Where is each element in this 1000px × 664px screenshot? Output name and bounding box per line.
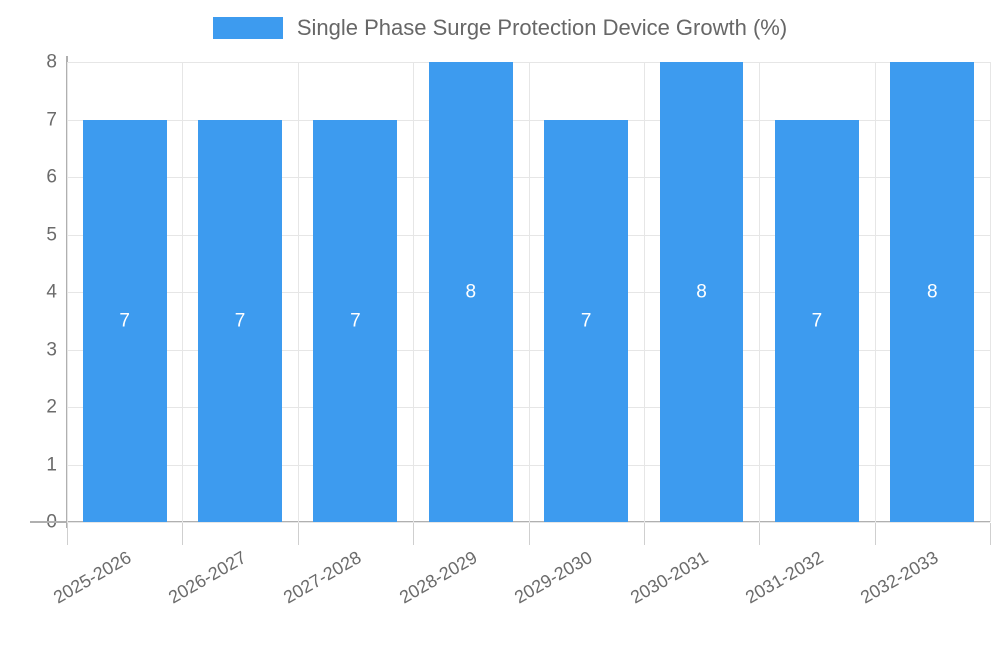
x-axis-tick-mark: [413, 523, 414, 545]
bar-value-label: 7: [775, 311, 859, 330]
bar[interactable]: 8: [660, 62, 744, 522]
bar[interactable]: 7: [83, 120, 167, 523]
gridline-vertical: [413, 62, 414, 522]
bar[interactable]: 8: [890, 62, 974, 522]
y-axis-tick-label: 2: [7, 398, 57, 417]
y-axis-tick-label: 5: [7, 225, 57, 244]
y-axis-tick-label: 6: [7, 168, 57, 187]
y-axis-tick-label: 1: [7, 455, 57, 474]
gridline-vertical: [759, 62, 760, 522]
plot-area: 77787878: [67, 62, 990, 522]
bar[interactable]: 7: [775, 120, 859, 523]
x-axis-tick-mark: [875, 523, 876, 545]
gridline-vertical: [875, 62, 876, 522]
gridline-vertical: [67, 62, 68, 522]
bar[interactable]: 7: [313, 120, 397, 523]
y-axis-tick-label: 3: [7, 340, 57, 359]
bar-value-label: 7: [544, 311, 628, 330]
bar-value-label: 7: [313, 311, 397, 330]
legend-color-swatch: [213, 17, 283, 39]
bar[interactable]: 8: [429, 62, 513, 522]
y-axis-tick-labels: 876543210: [0, 0, 57, 600]
gridline-vertical: [298, 62, 299, 522]
gridline-vertical: [990, 62, 991, 522]
bar-value-label: 8: [429, 283, 513, 302]
bar-value-label: 8: [890, 283, 974, 302]
bar[interactable]: 7: [198, 120, 282, 523]
gridline-vertical: [182, 62, 183, 522]
x-axis-tick-mark: [182, 523, 183, 545]
x-axis-tick-mark: [644, 523, 645, 545]
bar-value-label: 7: [198, 311, 282, 330]
chart-legend: Single Phase Surge Protection Device Gro…: [0, 0, 1000, 56]
gridline-vertical: [529, 62, 530, 522]
x-axis-tick-mark: [529, 523, 530, 545]
y-axis-tick-label: 8: [7, 53, 57, 72]
gridline-vertical: [644, 62, 645, 522]
legend-item-label: Single Phase Surge Protection Device Gro…: [297, 17, 787, 39]
bar-chart: Single Phase Surge Protection Device Gro…: [0, 0, 1000, 600]
bar[interactable]: 7: [544, 120, 628, 523]
bar-value-label: 8: [660, 283, 744, 302]
x-axis-tick-mark: [759, 523, 760, 545]
x-axis-tick-mark: [990, 523, 991, 545]
bar-value-label: 7: [83, 311, 167, 330]
x-axis-tick-mark: [67, 523, 68, 545]
x-axis-tick-mark: [298, 523, 299, 545]
y-axis-tick-label: 4: [7, 283, 57, 302]
legend-item-single-phase-surge-protection-device-growth[interactable]: Single Phase Surge Protection Device Gro…: [213, 17, 787, 39]
y-axis-tick-label: 7: [7, 110, 57, 129]
